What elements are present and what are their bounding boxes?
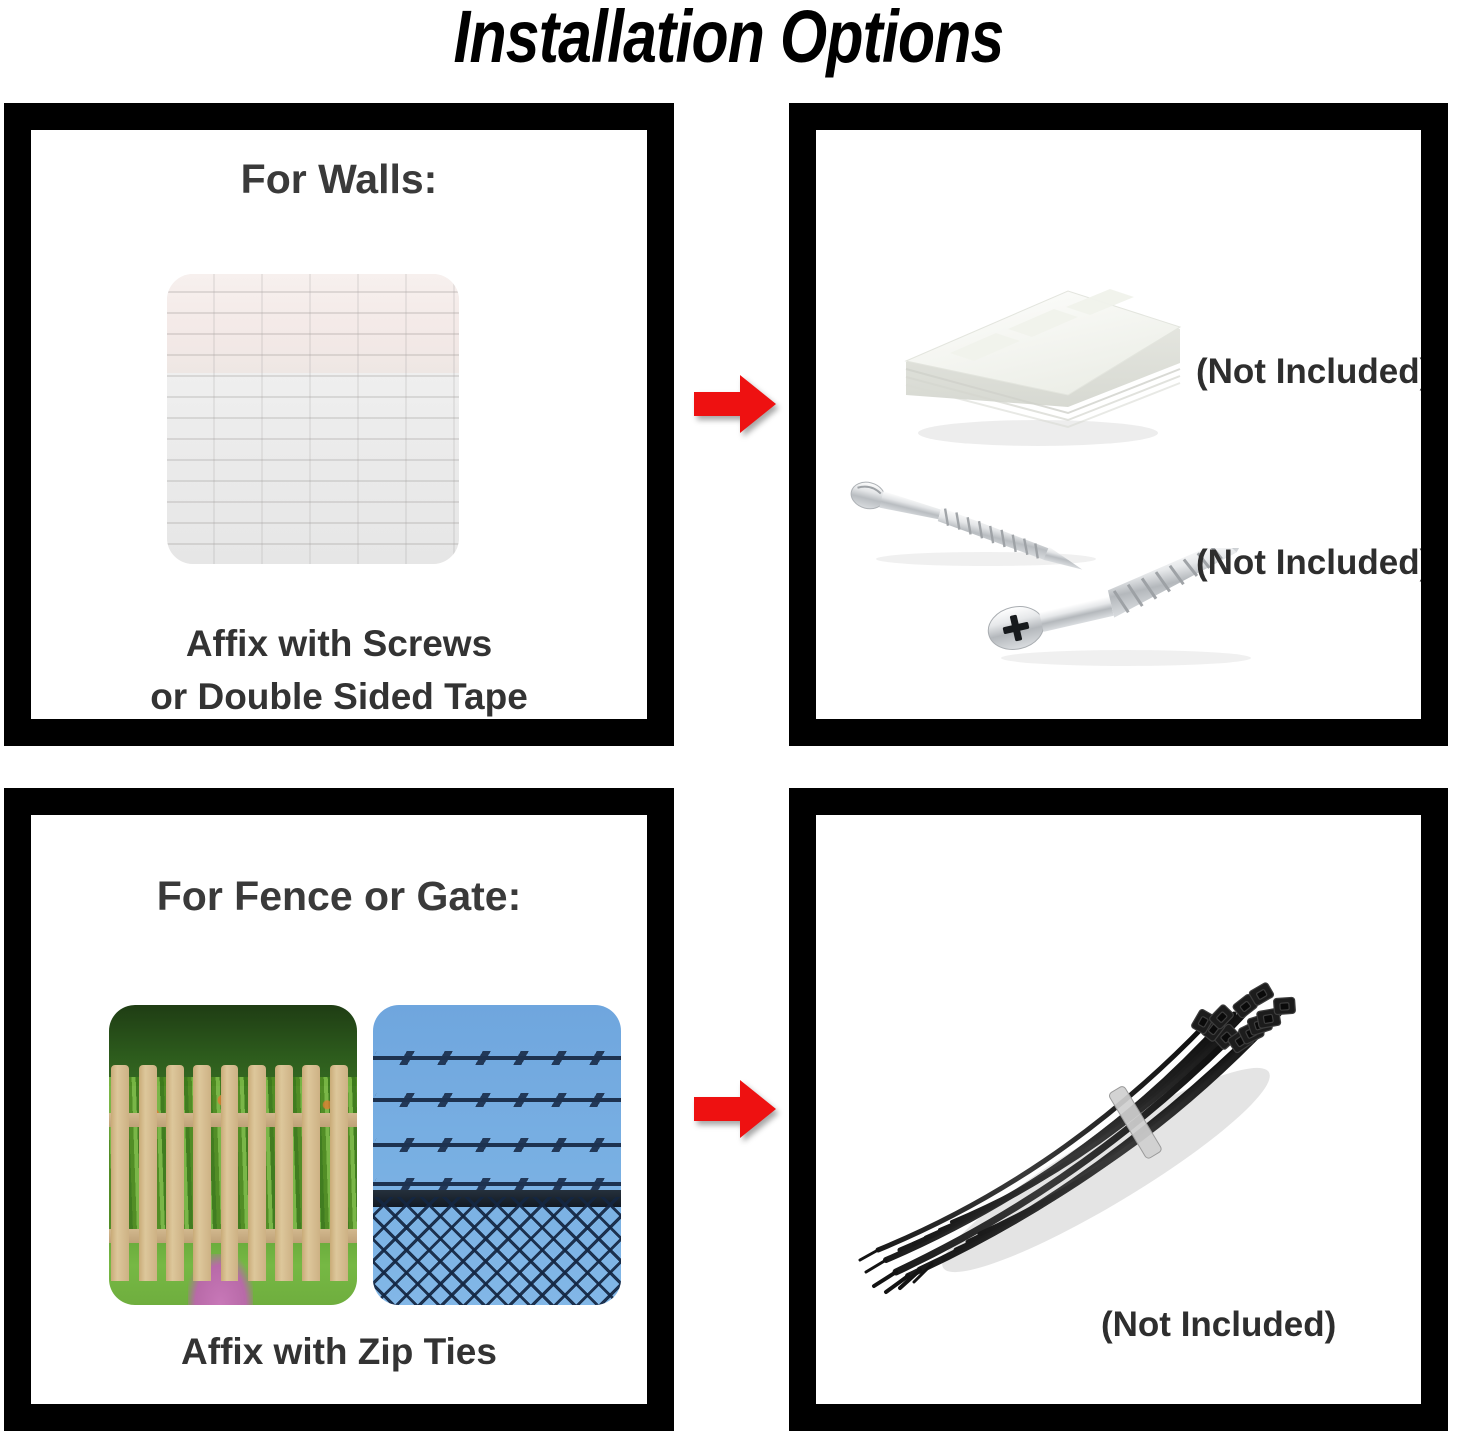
arrow-right-icon [694,1078,776,1140]
screws-not-included-note: (Not Included) [1196,543,1421,583]
wooden-picket-fence-thumbnail [109,1005,357,1305]
arrow-right-icon [694,373,776,435]
walls-caption-line-2: or Double Sided Tape [31,670,647,719]
fence-heading: For Fence or Gate: [31,873,647,920]
panel-zip-ties: (Not Included) [789,788,1448,1431]
fence-caption-line-1: Affix with Zip Ties [31,1325,647,1378]
black-zip-tie-bundle [856,920,1336,1300]
panel-for-walls: For Walls: Affix with Screws or Double S… [4,103,674,746]
panel-for-fence-or-gate: For Fence or Gate: [4,788,674,1431]
page-title: Installation Options [131,0,1326,79]
walls-heading: For Walls: [31,156,647,203]
walls-caption-line-1: Affix with Screws [31,617,647,670]
white-brick-wall-thumbnail [167,274,459,564]
panel-wall-hardware: (Not Included) [789,103,1448,746]
walls-caption: Affix with Screws or Double Sided Tape [31,617,647,719]
chain-link-barbed-wire-thumbnail [373,1005,621,1305]
zipties-not-included-note: (Not Included) [1101,1305,1336,1345]
installation-options-infographic: Installation Options For Walls: Affix wi… [0,0,1457,1434]
tape-not-included-note: (Not Included) [1196,352,1421,392]
fence-caption: Affix with Zip Ties [31,1325,647,1378]
double-sided-tape-stack [888,257,1188,452]
